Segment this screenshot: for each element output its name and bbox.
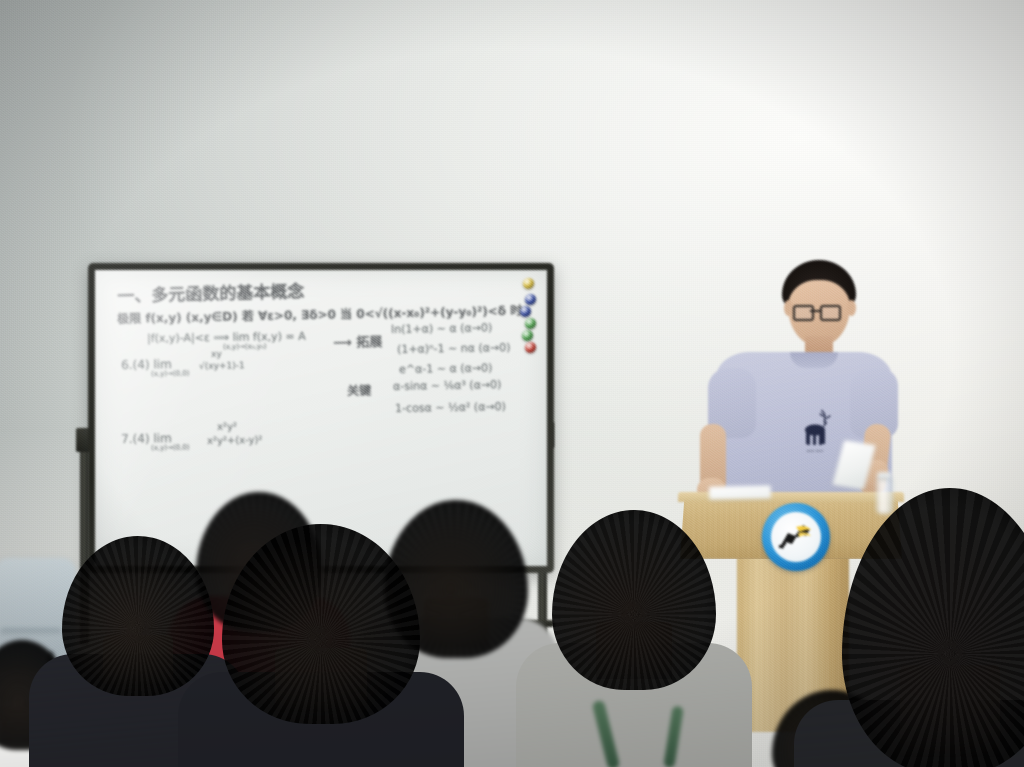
board-line-q7sub: (x,y)→(0,0) (151, 443, 190, 452)
board-line-e5: 1-cosα ~ ½α² (α→0) (395, 400, 506, 415)
glasses-lens-left (793, 305, 814, 321)
water-bottle-cap (877, 472, 892, 480)
board-line-arrow2: 关键 (347, 382, 371, 399)
board-line-e3: e^α-1 ~ α (α→0) (399, 361, 492, 376)
speaker-ear-right (847, 300, 856, 316)
glasses-bridge (810, 310, 821, 312)
whiteboard-magnet-1[interactable] (525, 294, 536, 305)
university-crest-icon (762, 503, 830, 571)
whiteboard-magnet-5[interactable] (525, 342, 536, 353)
board-line-e1: ln(1+α) ~ α (α→0) (391, 321, 492, 336)
hair (842, 488, 1024, 767)
hair (62, 536, 214, 696)
lectern-paper (709, 485, 771, 499)
whiteboard-magnet-2[interactable] (520, 306, 531, 317)
board-line-heading: 一、多元函数的基本概念 (117, 277, 305, 307)
board-line-e2: (1+α)ⁿ-1 ~ nα (α→0) (397, 341, 511, 356)
hair (552, 510, 716, 690)
glasses-lens-right (820, 305, 841, 321)
whiteboard-magnet-0[interactable] (523, 278, 534, 289)
student-foreground-right (842, 488, 1024, 767)
board-line-q7den: x²y²+(x-y)² (207, 435, 262, 447)
board-line-l3sub: (x,y)→(x₀,y₀) (223, 342, 267, 351)
hair-texture (842, 488, 1024, 767)
board-line-q6sub: (x,y)→(0,0) (151, 369, 190, 378)
hair-texture (62, 536, 214, 696)
classroom-photo-scene: 一、多元函数的基本概念极限 f(x,y) (x,y∈D) 若 ∀ε>0, ∃δ>… (0, 0, 1024, 767)
crest-artwork (762, 503, 830, 571)
board-line-q6den: √(xy+1)-1 (199, 361, 245, 372)
board-line-q6frac: xy (211, 350, 222, 360)
deer-graphic-icon: dear deer (793, 406, 837, 454)
whiteboard-magnet-3[interactable] (525, 318, 536, 329)
whiteboard-magnet-4[interactable] (522, 330, 533, 341)
chair-back-slot (0, 628, 62, 637)
board-line-arrow1: ⟶ 拓展 (333, 331, 382, 351)
hair-texture (222, 524, 420, 724)
student-center-front-dark (222, 524, 420, 767)
hair (222, 524, 420, 724)
board-line-e4: α-sinα ~ ⅙α³ (α→0) (393, 378, 502, 393)
svg-text:dear deer: dear deer (806, 448, 824, 453)
student-gray-tee-backpack (552, 510, 716, 767)
board-line-q7num: x²y² (217, 422, 237, 433)
hair-texture (552, 510, 716, 690)
speaker-ear-left (784, 300, 793, 316)
